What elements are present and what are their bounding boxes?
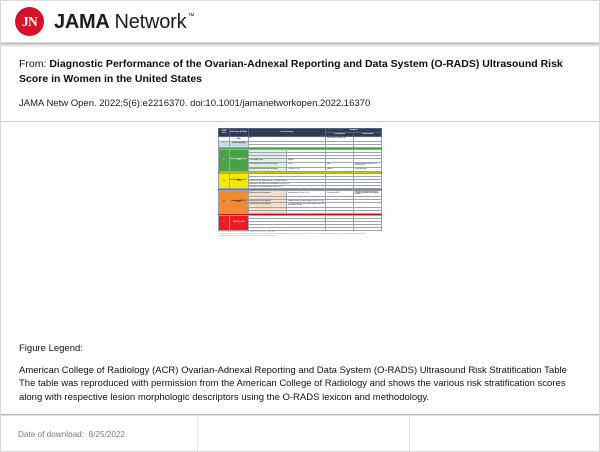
citation-block: From: Diagnostic Performance of the Ovar…: [1, 47, 599, 110]
page-title: Diagnostic Performance of the Ovarian-Ad…: [19, 58, 563, 85]
table-header: O-RADS Score Risk Category (0-5 Model) L…: [219, 129, 382, 137]
figure-legend-block: Figure Legend: American College of Radio…: [1, 334, 599, 404]
logo-badge-text: JN: [22, 15, 37, 29]
lexicon-descriptor-cell: Ascites and/or peritoneal nodules: [248, 227, 326, 230]
orads-score-cell: 2: [219, 149, 230, 172]
th-orads-score: O-RADS Score: [219, 129, 230, 137]
risk-category-cell: High Risk (≥ 50%): [229, 215, 248, 230]
trademark-symbol: ™: [187, 13, 194, 20]
jama-network-logo-icon[interactable]: JN: [15, 7, 44, 36]
table-footnote: Presence of ascites with category 2 lesi…: [218, 236, 382, 238]
brand-bold-text: JAMA: [54, 12, 109, 32]
orads-score-cell: 4: [219, 191, 230, 214]
orads-score-cell: 3: [219, 174, 230, 189]
brand-wordmark: JAMA Network ™: [54, 12, 194, 32]
figure-legend-heading: Figure Legend:: [19, 343, 581, 354]
orads-figure[interactable]: O-RADS Score Risk Category (0-5 Model) L…: [218, 128, 382, 238]
figure-area: O-RADS Score Risk Category (0-5 Model) L…: [1, 122, 599, 334]
figure-legend-body: American College of Radiology (ACR) Ovar…: [19, 364, 581, 404]
risk-category-cell: Almost Certainly Benign (< 1%): [229, 149, 248, 172]
masthead: JN JAMA Network ™: [1, 1, 599, 42]
th-lexicon-descriptors: Lexicon Descriptors: [248, 129, 326, 137]
footer-cell-middle: [197, 416, 409, 451]
management-pre-menopausal-cell: [326, 227, 354, 230]
article-page: JN JAMA Network ™ From: Diagnostic Perfo…: [0, 0, 600, 452]
risk-category-cell: Low Risk Malignancy (1 - <10%): [229, 174, 248, 189]
page-footer: Date of download: 8/25/2022: [1, 416, 599, 451]
footer-cell-download: Date of download: 8/25/2022: [1, 416, 197, 451]
from-label: From:: [19, 58, 46, 70]
footer-cell-right: [409, 416, 599, 451]
table-footnotes: O-RADS score indicates percentage; O-RAD…: [218, 232, 382, 238]
download-date-text: Date of download: 8/25/2022: [18, 430, 125, 439]
article-title-line: From: Diagnostic Performance of the Ovar…: [19, 57, 581, 86]
table-body: 0Incomplete Evaluation (N/A)N/ARepeat st…: [219, 137, 382, 231]
journal-citation: JAMA Netw Open. 2022;5(6):e2216370. doi:…: [19, 97, 581, 110]
orads-score-cell: 5: [219, 215, 230, 230]
th-risk-category: Risk Category (0-5 Model): [229, 129, 248, 137]
brand-light-text: Network: [114, 12, 186, 32]
orads-risk-stratification-table: O-RADS Score Risk Category (0-5 Model) L…: [218, 128, 382, 231]
risk-category-cell: Intermediate Risk (10 - <50%): [229, 191, 248, 214]
management-post-menopausal-cell: [354, 227, 382, 230]
